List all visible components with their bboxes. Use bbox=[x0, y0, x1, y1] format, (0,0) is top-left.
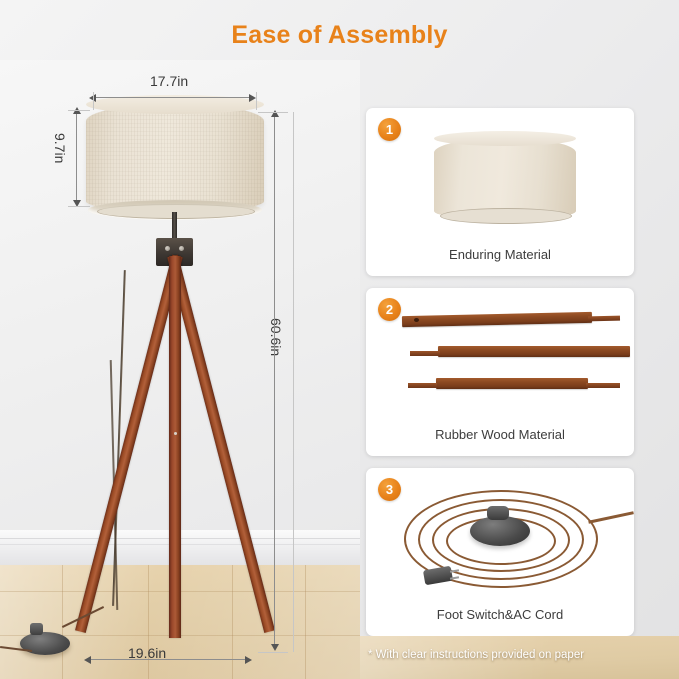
dimension-label-shade-width: 17.7in bbox=[150, 73, 188, 89]
dimension-line-shade-height bbox=[76, 112, 77, 202]
extension-line bbox=[68, 110, 90, 111]
tripod-leg-left bbox=[75, 255, 183, 633]
cord-coil-icon bbox=[366, 482, 634, 598]
feature-card-3[interactable]: 3 Foot Switch&AC Cord bbox=[366, 468, 634, 636]
foot-switch bbox=[20, 632, 70, 655]
ac-plug-icon bbox=[423, 566, 453, 586]
extension-line bbox=[256, 92, 257, 110]
arrow-left-icon bbox=[84, 656, 91, 664]
wood-leg bbox=[438, 346, 630, 357]
dimension-label-shade-height: 9.7in bbox=[52, 133, 68, 163]
wood-leg-tip bbox=[586, 383, 620, 388]
extension-line-vertical bbox=[293, 112, 294, 652]
wood-leg bbox=[436, 378, 588, 389]
shade-texture bbox=[86, 104, 264, 212]
dimension-line-base-width bbox=[90, 659, 247, 660]
dimension-label-total-height: 60.6in bbox=[268, 318, 284, 356]
extension-line bbox=[258, 112, 288, 113]
card-label-2: Rubber Wood Material bbox=[366, 427, 634, 442]
wood-leg-tip bbox=[410, 351, 440, 356]
lamp-shade bbox=[86, 104, 264, 212]
shade-illustration-lip bbox=[440, 208, 572, 224]
tripod-leg-right bbox=[167, 255, 275, 633]
extension-line bbox=[258, 652, 288, 653]
extension-line bbox=[93, 92, 94, 110]
wood-legs-icon bbox=[366, 302, 634, 418]
dimension-line-total-height bbox=[274, 115, 275, 648]
foot-switch-button-illustration bbox=[487, 506, 509, 520]
lamp-stem bbox=[172, 212, 177, 241]
arrow-right-icon bbox=[245, 656, 252, 664]
extension-line bbox=[68, 206, 90, 207]
wood-knot bbox=[414, 318, 419, 322]
arrow-right-icon bbox=[249, 94, 256, 102]
bracket-screw bbox=[165, 246, 170, 251]
cord-tail bbox=[588, 511, 634, 523]
page-title: Ease of Assembly bbox=[0, 21, 679, 50]
dimension-line-shade-width bbox=[95, 97, 251, 98]
arrow-down-icon bbox=[271, 644, 279, 651]
footnote-text: * With clear instructions provided on pa… bbox=[368, 649, 584, 661]
tripod-leg-center bbox=[169, 256, 181, 638]
lamp-shade-icon bbox=[366, 122, 634, 238]
wood-leg-tip bbox=[408, 383, 437, 388]
foot-switch-button bbox=[30, 623, 43, 635]
leg-pin bbox=[174, 432, 177, 435]
bracket-screw bbox=[179, 246, 184, 251]
card-label-3: Foot Switch&AC Cord bbox=[366, 607, 634, 622]
feature-card-2[interactable]: 2 Rubber Wood Material bbox=[366, 288, 634, 456]
wood-leg bbox=[402, 312, 592, 327]
wood-leg-tip bbox=[588, 316, 620, 322]
infographic-root: Ease of Assembly bbox=[0, 0, 679, 679]
feature-card-1[interactable]: 1 Enduring Material bbox=[366, 108, 634, 276]
card-label-1: Enduring Material bbox=[366, 247, 634, 262]
foot-switch-illustration bbox=[470, 516, 530, 546]
